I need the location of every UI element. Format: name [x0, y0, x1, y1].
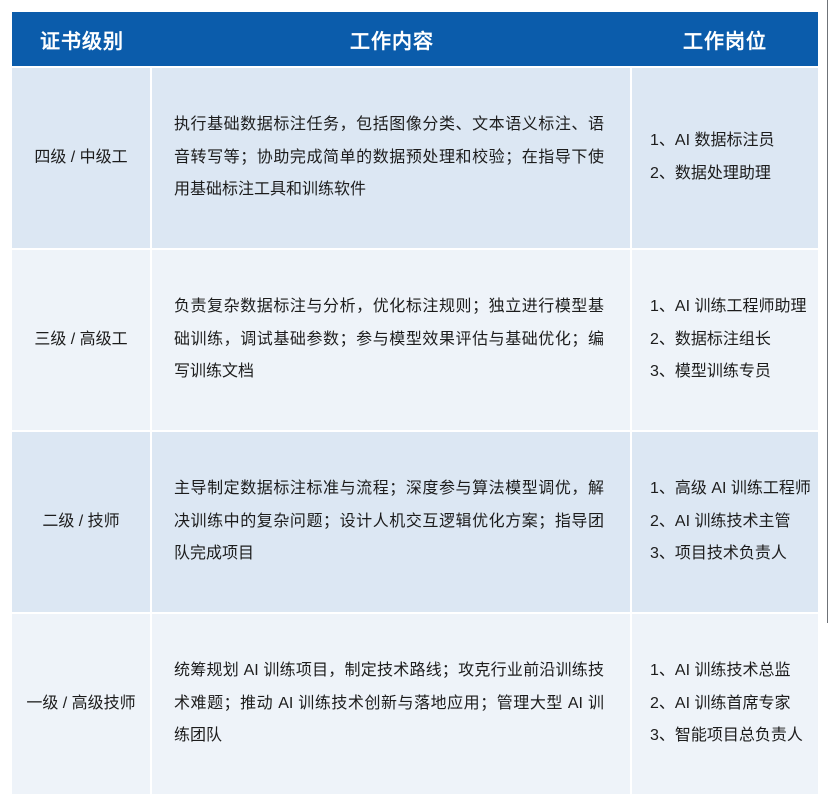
post-item: 2、数据处理助理	[650, 158, 808, 191]
post-item: 3、模型训练专员	[650, 356, 808, 389]
column-header-level: 证书级别	[12, 12, 152, 66]
post-item: 2、AI 训练技术主管	[650, 506, 808, 539]
cell-work-content: 负责复杂数据标注与分析，优化标注规则；独立进行模型基础训练，调试基础参数；参与模…	[152, 248, 632, 430]
cell-work-content: 统筹规划 AI 训练项目，制定技术路线；攻克行业前沿训练技术难题；推动 AI 训…	[152, 612, 632, 794]
cell-work-post: 1、AI 训练技术总监 2、AI 训练首席专家 3、智能项目总负责人	[632, 612, 818, 794]
post-item: 1、AI 训练技术总监	[650, 655, 808, 688]
table-row: 三级 / 高级工 负责复杂数据标注与分析，优化标注规则；独立进行模型基础训练，调…	[12, 248, 818, 430]
post-item: 1、AI 数据标注员	[650, 125, 808, 158]
cell-certificate-level: 三级 / 高级工	[12, 248, 152, 430]
post-item: 1、AI 训练工程师助理	[650, 291, 808, 324]
table-row: 一级 / 高级技师 统筹规划 AI 训练项目，制定技术路线；攻克行业前沿训练技术…	[12, 612, 818, 794]
certificate-level-table-container: 证书级别 工作内容 工作岗位 四级 / 中级工 执行基础数据标注任务，包括图像分…	[12, 12, 818, 794]
cell-certificate-level: 四级 / 中级工	[12, 66, 152, 248]
post-item: 2、AI 训练首席专家	[650, 688, 808, 721]
cell-work-content: 执行基础数据标注任务，包括图像分类、文本语义标注、语音转写等；协助完成简单的数据…	[152, 66, 632, 248]
page-edge-rule	[827, 0, 828, 623]
table-header-row: 证书级别 工作内容 工作岗位	[12, 12, 818, 66]
certificate-level-table: 证书级别 工作内容 工作岗位 四级 / 中级工 执行基础数据标注任务，包括图像分…	[12, 12, 818, 794]
post-item: 1、高级 AI 训练工程师	[650, 473, 808, 506]
cell-work-post: 1、AI 训练工程师助理 2、数据标注组长 3、模型训练专员	[632, 248, 818, 430]
cell-certificate-level: 一级 / 高级技师	[12, 612, 152, 794]
cell-work-post: 1、高级 AI 训练工程师 2、AI 训练技术主管 3、项目技术负责人	[632, 430, 818, 612]
table-row: 二级 / 技师 主导制定数据标注标准与流程；深度参与算法模型调优，解决训练中的复…	[12, 430, 818, 612]
table-row: 四级 / 中级工 执行基础数据标注任务，包括图像分类、文本语义标注、语音转写等；…	[12, 66, 818, 248]
column-header-content: 工作内容	[152, 12, 632, 66]
post-item: 3、项目技术负责人	[650, 538, 808, 571]
table-body: 四级 / 中级工 执行基础数据标注任务，包括图像分类、文本语义标注、语音转写等；…	[12, 66, 818, 794]
table-header: 证书级别 工作内容 工作岗位	[12, 12, 818, 66]
cell-work-content: 主导制定数据标注标准与流程；深度参与算法模型调优，解决训练中的复杂问题；设计人机…	[152, 430, 632, 612]
post-item: 2、数据标注组长	[650, 324, 808, 357]
post-item: 3、智能项目总负责人	[650, 720, 808, 753]
cell-certificate-level: 二级 / 技师	[12, 430, 152, 612]
column-header-post: 工作岗位	[632, 12, 818, 66]
cell-work-post: 1、AI 数据标注员 2、数据处理助理	[632, 66, 818, 248]
